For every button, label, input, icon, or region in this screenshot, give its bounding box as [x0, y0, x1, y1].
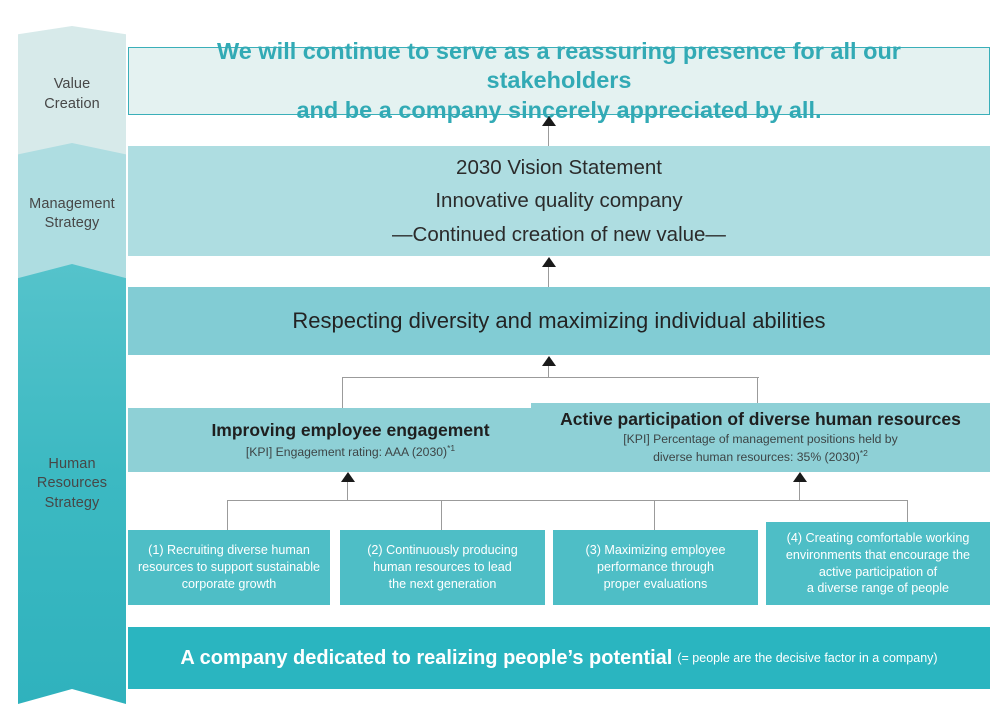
arrow-up-icon: [542, 116, 556, 126]
connector-vision-to-top: [548, 125, 549, 146]
vision-line-2: Innovative quality company: [435, 184, 682, 217]
kpi-card-employee-engagement: Improving employee engagement [KPI] Enga…: [128, 408, 573, 472]
connector-leaf-3-riser: [654, 500, 655, 530]
kpi-footnote-marker: *1: [447, 443, 455, 453]
kpi-title: Active participation of diverse human re…: [560, 409, 961, 429]
foundation-main-text: A company dedicated to realizing people’…: [180, 647, 672, 670]
rail-item-label: ValueCreation: [44, 75, 100, 113]
top-statement-line2: and be a company sincerely appreciated b…: [145, 96, 973, 126]
foundation-note-text: (= people are the decisive factor in a c…: [677, 651, 937, 665]
kpi-sub-line1: [KPI] Percentage of management positions…: [623, 432, 897, 448]
top-statement-line1: We will continue to serve as a reassurin…: [217, 38, 901, 94]
diagram-canvas: ValueCreation ManagementStrategy HumanRe…: [0, 0, 1000, 715]
foundation-banner: A company dedicated to realizing people’…: [128, 627, 990, 689]
rail-item-management-strategy: ManagementStrategy: [18, 143, 126, 285]
rail-item-label: HumanResourcesStrategy: [37, 455, 107, 512]
initiative-text: (3) Maximizing employeeperformance throu…: [586, 542, 726, 592]
initiative-text: (1) Recruiting diverse humanresources to…: [138, 542, 320, 592]
vision-line-1: 2030 Vision Statement: [456, 151, 662, 184]
top-statement-banner: We will continue to serve as a reassurin…: [128, 47, 990, 115]
initiative-card-1: (1) Recruiting diverse humanresources to…: [128, 530, 330, 605]
respecting-diversity-block: Respecting diversity and maximizing indi…: [128, 287, 990, 355]
arrow-up-icon: [793, 472, 807, 482]
kpi-card-diverse-human-resources: Active participation of diverse human re…: [531, 403, 990, 472]
rail-item-value-creation: ValueCreation: [18, 26, 126, 163]
kpi-footnote-marker: *2: [860, 448, 868, 458]
rail-item-human-resources-strategy: HumanResourcesStrategy: [18, 264, 126, 704]
initiative-card-2: (2) Continuously producinghuman resource…: [340, 530, 545, 605]
top-statement-text: We will continue to serve as a reassurin…: [145, 37, 973, 126]
connector-kpi-left-riser: [342, 377, 343, 408]
strategy-layer-rail: ValueCreation ManagementStrategy HumanRe…: [18, 0, 126, 715]
kpi-sub-line2: diverse human resources: 35% (2030): [653, 450, 860, 464]
kpi-title: Improving employee engagement: [211, 420, 489, 440]
initiative-text: (4) Creating comfortable workingenvironm…: [786, 530, 970, 597]
connector-kpi-right-riser: [757, 377, 758, 403]
arrow-up-icon: [542, 356, 556, 366]
connector-bus-kpi: [342, 377, 759, 378]
arrow-up-icon: [542, 257, 556, 267]
connector-leaves-to-kpi-right: [799, 481, 800, 500]
initiative-text: (2) Continuously producinghuman resource…: [367, 542, 518, 592]
vision-line-3: —Continued creation of new value—: [392, 218, 726, 251]
connector-respect-to-vision: [548, 266, 549, 287]
initiative-card-4: (4) Creating comfortable workingenvironm…: [766, 522, 990, 605]
connector-kpi-to-respect: [548, 365, 549, 378]
kpi-subtitle: [KPI] Engagement rating: AAA (2030)*1: [246, 443, 455, 461]
connector-leaf-4-riser: [907, 500, 908, 522]
kpi-subtitle: [KPI] Percentage of management positions…: [623, 432, 897, 465]
connector-leaf-1-riser: [227, 500, 228, 530]
connector-leaves-to-kpi-left: [347, 481, 348, 500]
kpi-sub-text: [KPI] Engagement rating: AAA (2030): [246, 445, 447, 459]
connector-bus-leaves: [227, 500, 908, 501]
initiative-card-3: (3) Maximizing employeeperformance throu…: [553, 530, 758, 605]
vision-statement-block: 2030 Vision Statement Innovative quality…: [128, 146, 990, 256]
connector-leaf-2-riser: [441, 500, 442, 530]
kpi-sub-line2-wrap: diverse human resources: 35% (2030)*2: [623, 448, 897, 466]
rail-item-label: ManagementStrategy: [29, 195, 115, 233]
respecting-diversity-text: Respecting diversity and maximizing indi…: [292, 308, 825, 334]
arrow-up-icon: [341, 472, 355, 482]
